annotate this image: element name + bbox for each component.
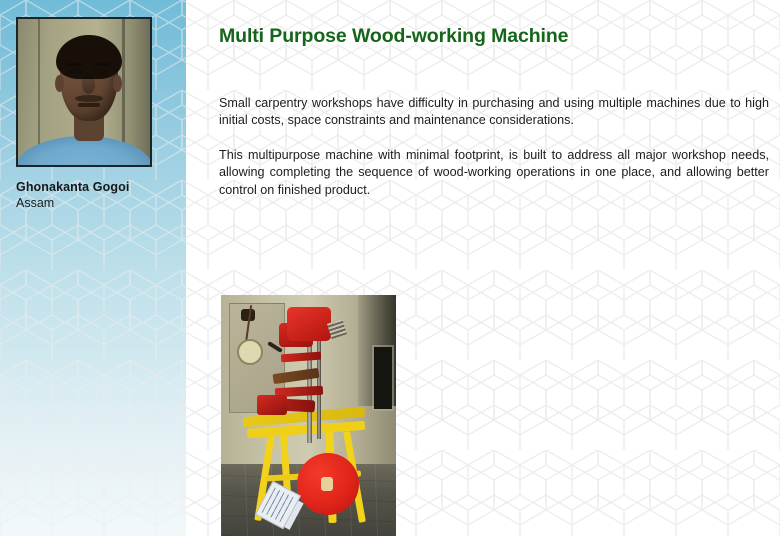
body-paragraph-1: Small carpentry workshops have difficult… [219, 95, 769, 130]
machine-red-vise [257, 395, 287, 415]
machine-photo [221, 295, 396, 536]
page-root: Ghonakanta Gogoi Assam Multi Purpose Woo… [0, 0, 780, 536]
portrait-eyebrow-right [94, 63, 110, 66]
machine-photo-window [374, 347, 392, 409]
body-paragraph-2: This multipurpose machine with minimal f… [219, 147, 769, 200]
portrait-nose [82, 75, 95, 94]
page-title: Multi Purpose Wood-working Machine [219, 25, 568, 48]
machine-info-card-text-lines [262, 487, 295, 522]
portrait-mouth [78, 103, 100, 107]
portrait-eye-left [68, 69, 82, 74]
portrait-eye-right [95, 69, 109, 74]
portrait-ear-left [55, 75, 64, 92]
sidebar-panel: Ghonakanta Gogoi Assam [0, 0, 186, 536]
innovator-region: Assam [16, 196, 54, 210]
machine-photo-wall-disc [237, 339, 263, 365]
main-content: Multi Purpose Wood-working Machine Small… [186, 0, 780, 536]
portrait-eyebrow-left [67, 63, 83, 66]
portrait-ear-right [113, 75, 122, 92]
machine-flywheel-hub [321, 477, 333, 491]
machine-motor-head [287, 307, 331, 341]
portrait-moustache [75, 95, 103, 102]
innovator-portrait-photo [16, 17, 152, 167]
innovator-name: Ghonakanta Gogoi [16, 180, 129, 194]
